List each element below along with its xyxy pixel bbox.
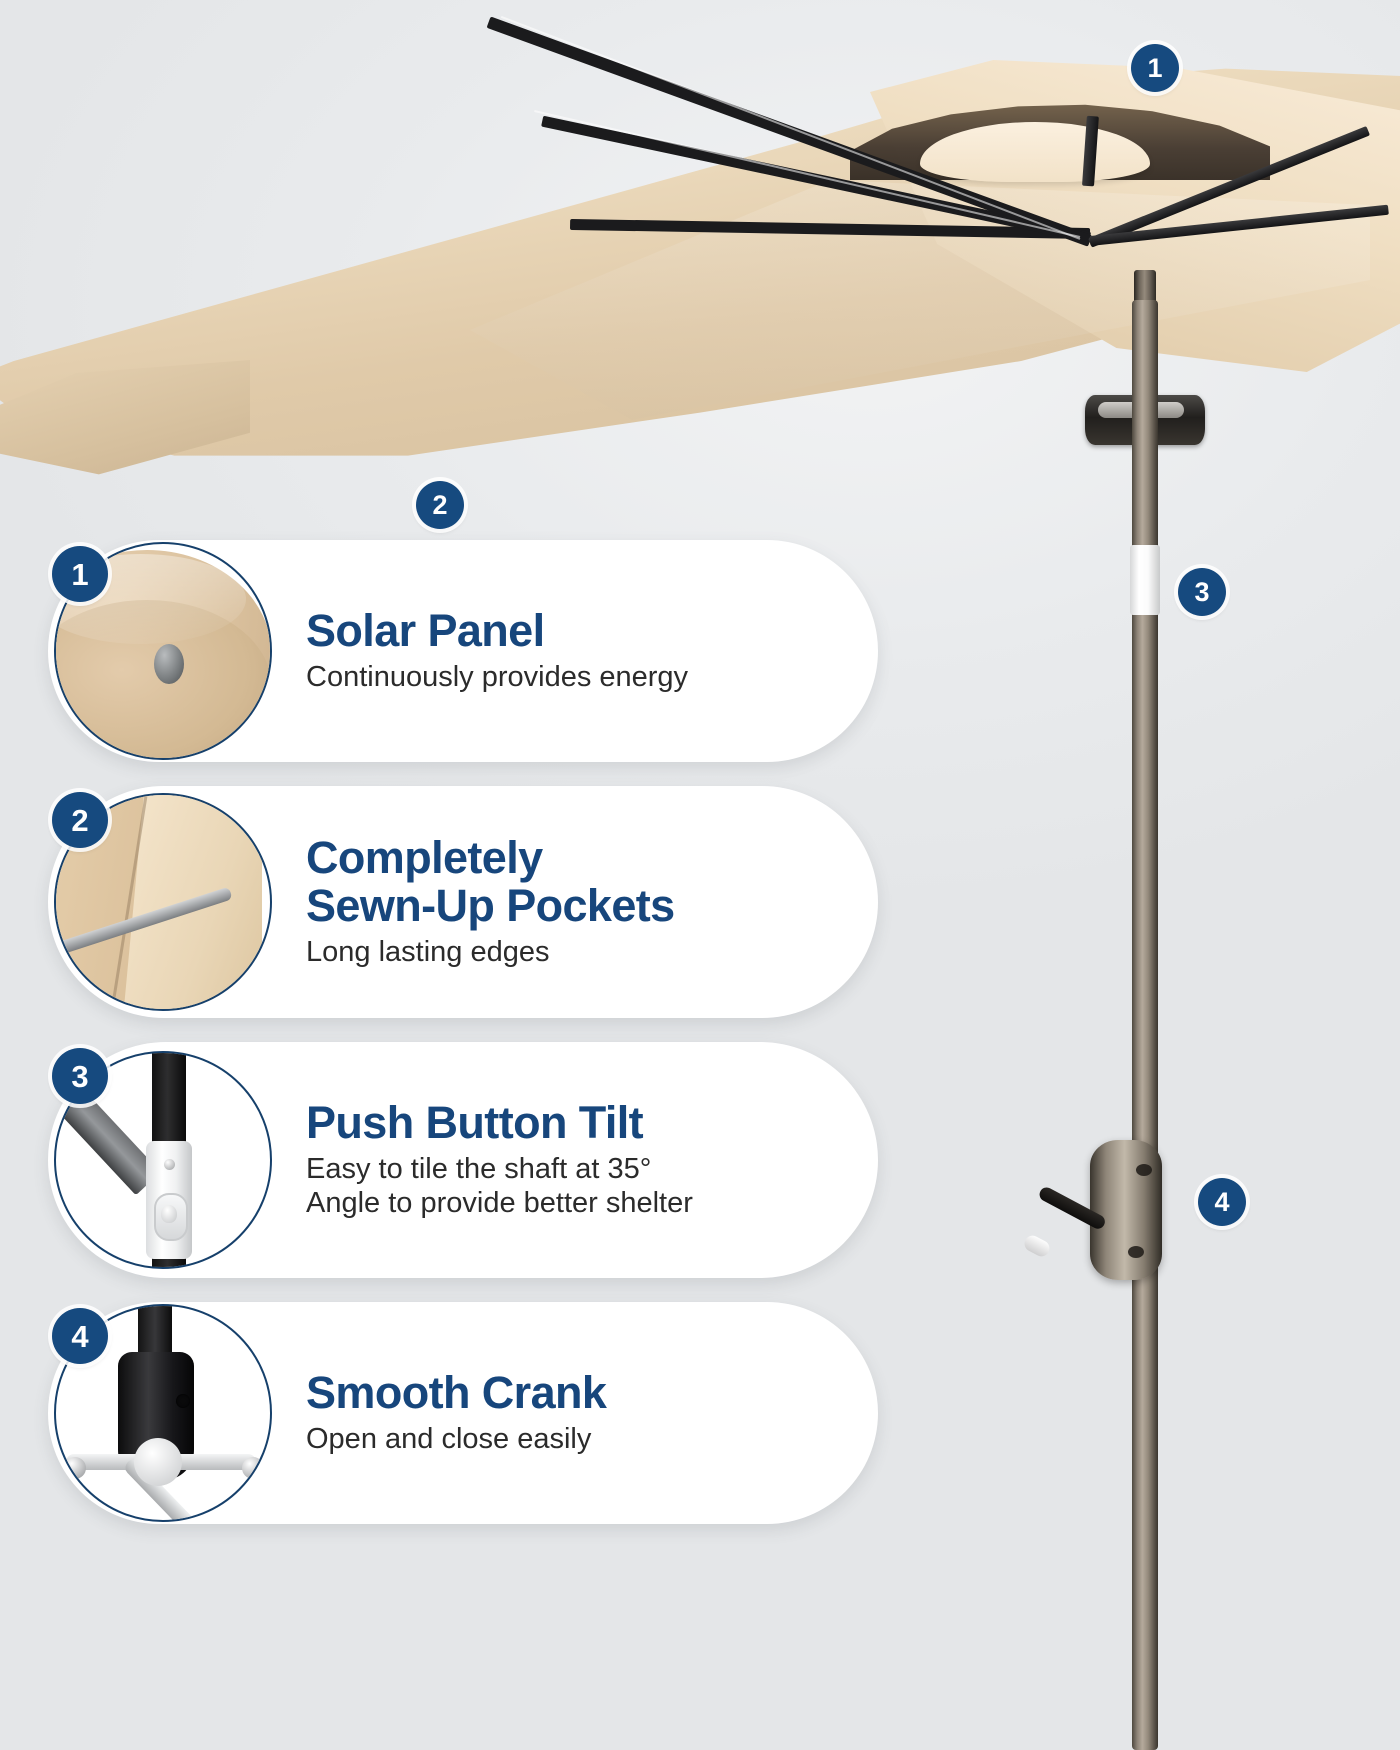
crank-hub-cap bbox=[134, 1438, 182, 1486]
feature-title: Completely Sewn-Up Pockets bbox=[306, 834, 675, 929]
feature-number-badge-2: 2 bbox=[52, 792, 108, 848]
feature-card-smooth-crank[interactable]: 4 Smooth Crank Open and close easily bbox=[48, 1302, 878, 1524]
solar-panel-cap-icon bbox=[154, 644, 184, 684]
crank-housing-hole bbox=[176, 1394, 190, 1408]
hero-callout-4[interactable]: 4 bbox=[1198, 1178, 1246, 1226]
feature-text-block: Smooth Crank Open and close easily bbox=[272, 1369, 626, 1457]
feature-card-push-button-tilt[interactable]: 3 Push Button Tilt Easy to tile the shaf… bbox=[48, 1042, 878, 1278]
feature-number-badge-4: 4 bbox=[52, 1308, 108, 1364]
crank-arm-end-left bbox=[64, 1457, 86, 1479]
feature-subtitle: Long lasting edges bbox=[306, 936, 675, 970]
feature-title: Push Button Tilt bbox=[306, 1099, 693, 1147]
feature-card-sewn-up-pockets[interactable]: 2 Completely Sewn-Up Pockets Long lastin… bbox=[48, 786, 878, 1018]
umbrella-canopy bbox=[0, 60, 1400, 530]
feature-text-block: Completely Sewn-Up Pockets Long lasting … bbox=[272, 834, 695, 969]
crank-screw-top bbox=[1136, 1164, 1152, 1176]
hero-callout-3[interactable]: 3 bbox=[1178, 568, 1226, 616]
crank-screw-bottom bbox=[1128, 1246, 1144, 1258]
tilt-push-button-inner bbox=[161, 1205, 177, 1223]
feature-subtitle: Easy to tile the shaft at 35° Angle to p… bbox=[306, 1153, 693, 1221]
feature-text-block: Push Button Tilt Easy to tile the shaft … bbox=[272, 1099, 713, 1221]
umbrella-pole bbox=[1132, 300, 1158, 1750]
feature-number-badge-1: 1 bbox=[52, 546, 108, 602]
infographic-stage: 1 2 3 4 1 Solar Panel Continuously provi… bbox=[0, 0, 1400, 1750]
feature-text-block: Solar Panel Continuously provides energy bbox=[272, 607, 708, 695]
feature-title: Smooth Crank bbox=[306, 1369, 606, 1417]
feature-subtitle: Continuously provides energy bbox=[306, 661, 688, 695]
feature-subtitle: Open and close easily bbox=[306, 1423, 606, 1457]
feature-number-badge-3: 3 bbox=[52, 1048, 108, 1104]
feature-card-solar-panel[interactable]: 1 Solar Panel Continuously provides ener… bbox=[48, 540, 878, 762]
crank-arm-end-right bbox=[242, 1457, 264, 1479]
hero-callout-2[interactable]: 2 bbox=[416, 481, 464, 529]
tilt-pivot-screw bbox=[164, 1159, 175, 1170]
feature-card-list: 1 Solar Panel Continuously provides ener… bbox=[48, 540, 878, 1548]
feature-title: Solar Panel bbox=[306, 607, 688, 655]
hero-callout-1[interactable]: 1 bbox=[1131, 44, 1179, 92]
crank-housing bbox=[1090, 1140, 1162, 1280]
push-button-tilt-housing bbox=[1130, 545, 1160, 615]
